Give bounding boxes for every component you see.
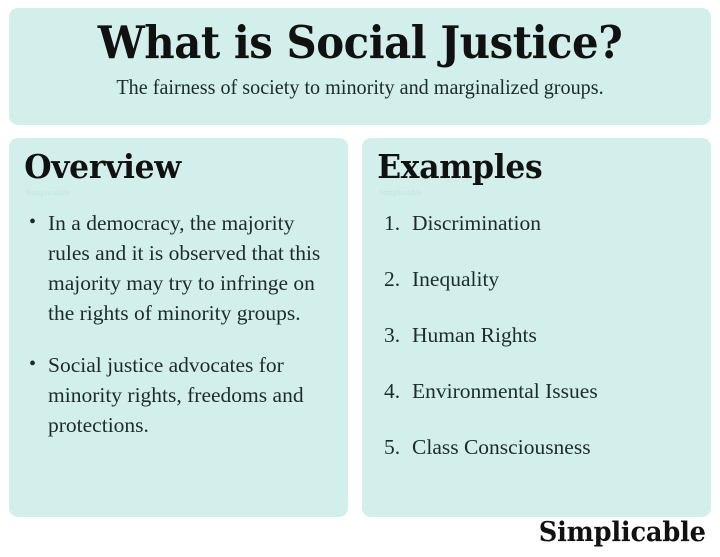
examples-numbered-list: Discrimination Inequality Human Rights E… (362, 198, 711, 461)
page-subtitle: The fairness of society to minority and … (23, 72, 697, 100)
overview-card: Overview Simplicable In a democracy, the… (9, 138, 348, 517)
header-card: What is Social Justice? The fairness of … (9, 8, 711, 125)
list-item: Human Rights (384, 321, 701, 349)
list-item: Environmental Issues (384, 377, 701, 405)
page-title: What is Social Justice? (34, 8, 687, 72)
list-item: Discrimination (384, 209, 701, 237)
examples-heading: Examples (362, 138, 694, 187)
overview-bullet-list: In a democracy, the majority rules and i… (9, 198, 348, 440)
brand-logo: Simplicable (539, 518, 706, 548)
list-item: Inequality (384, 265, 701, 293)
list-item: In a democracy, the majority rules and i… (29, 208, 336, 328)
infographic-root: What is Social Justice? The fairness of … (0, 0, 720, 557)
list-item: Class Consciousness (384, 433, 701, 461)
examples-watermark: Simplicable (362, 187, 711, 198)
examples-card: Examples Simplicable Discrimination Ineq… (362, 138, 711, 517)
overview-watermark: Simplicable (9, 187, 348, 198)
list-item: Social justice advocates for minority ri… (29, 350, 336, 440)
overview-heading: Overview (9, 138, 331, 187)
